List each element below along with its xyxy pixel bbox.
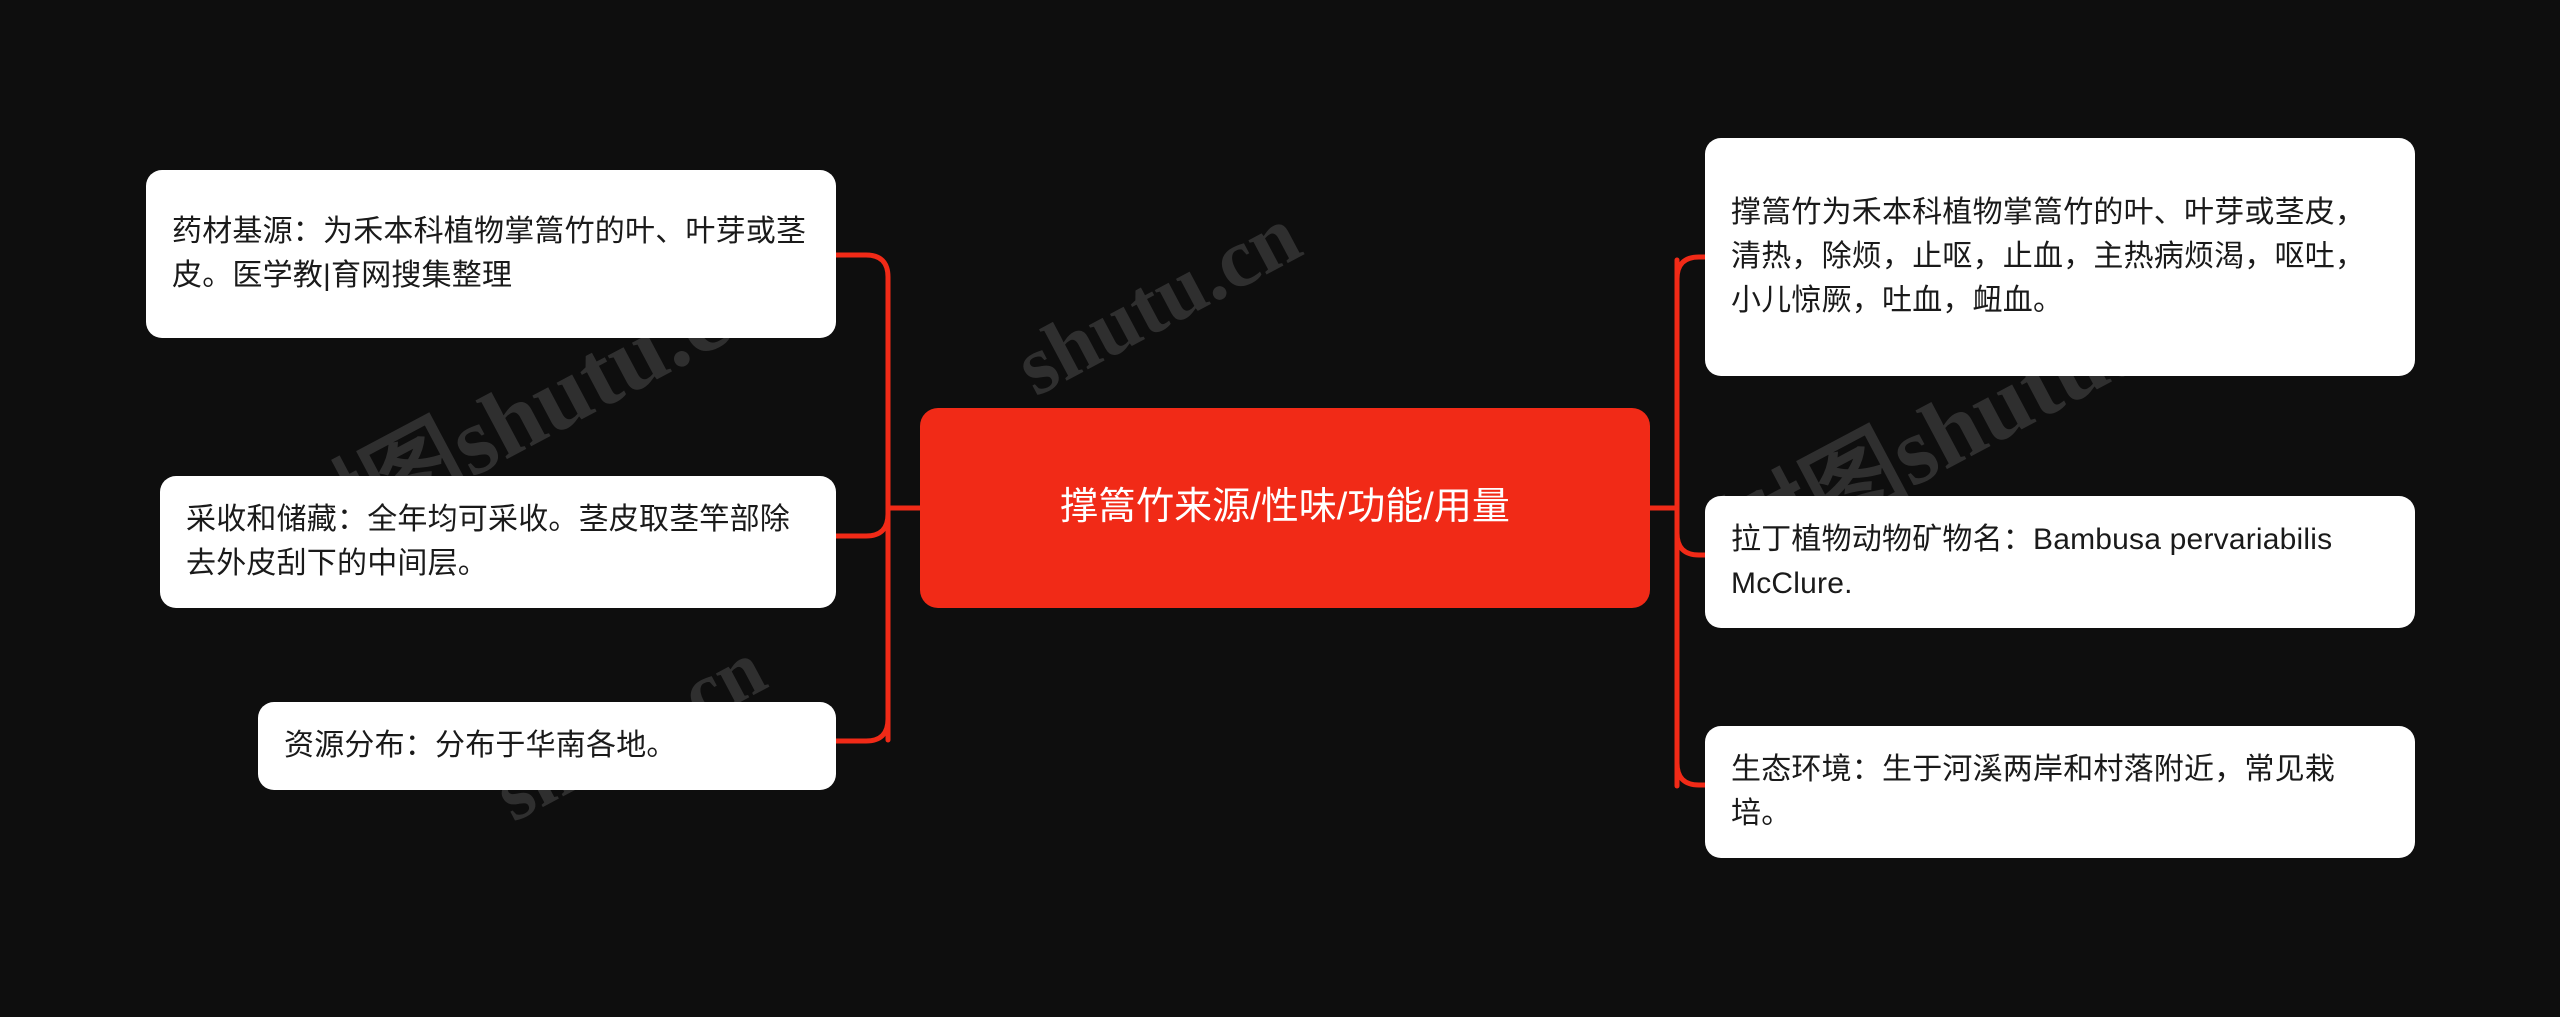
node-label: 撑篙竹为禾本科植物掌篙竹的叶、叶芽或茎皮，清热，除烦，止呕，止血，主热病烦渴，呕… [1731, 191, 2389, 322]
mindmap-node-right-summary[interactable]: 撑篙竹为禾本科植物掌篙竹的叶、叶芽或茎皮，清热，除烦，止呕，止血，主热病烦渴，呕… [1705, 138, 2415, 376]
root-label: 撑篙竹来源/性味/功能/用量 [950, 481, 1620, 535]
node-label: 资源分布：分布于华南各地。 [284, 724, 810, 768]
connector-right-0 [1677, 257, 1705, 292]
connector-left-0 [836, 255, 888, 290]
mindmap-node-right-habitat[interactable]: 生态环境：生于河溪两岸和村落附近，常见栽培。 [1705, 726, 2415, 858]
connector-left-1 [836, 508, 888, 536]
mindmap-node-root[interactable]: 撑篙竹来源/性味/功能/用量 [920, 408, 1650, 608]
mindmap-node-left-distribution[interactable]: 资源分布：分布于华南各地。 [258, 702, 836, 790]
connector-right-1 [1677, 520, 1705, 555]
mindmap-node-left-source[interactable]: 药材基源：为禾本科植物掌篙竹的叶、叶芽或茎皮。医学教|育网搜集整理 [146, 170, 836, 338]
connector-right-2 [1677, 750, 1705, 785]
watermark-text: shutu.cn [1000, 186, 1316, 415]
node-label: 采收和储藏：全年均可采收。茎皮取茎竿部除去外皮刮下的中间层。 [186, 498, 810, 586]
mindmap-node-left-harvest[interactable]: 采收和储藏：全年均可采收。茎皮取茎竿部除去外皮刮下的中间层。 [160, 476, 836, 608]
connector-left-2 [836, 706, 888, 741]
mindmap-node-right-latin-name[interactable]: 拉丁植物动物矿物名：Bambusa pervariabilis McClure. [1705, 496, 2415, 628]
node-label: 拉丁植物动物矿物名：Bambusa pervariabilis McClure. [1731, 518, 2389, 606]
node-label: 生态环境：生于河溪两岸和村落附近，常见栽培。 [1731, 748, 2389, 836]
node-label: 药材基源：为禾本科植物掌篙竹的叶、叶芽或茎皮。医学教|育网搜集整理 [172, 210, 810, 298]
mindmap-canvas: 树图shutu.cn shutu.cn 树图shutu.cn shutu.cn [0, 0, 2560, 1017]
